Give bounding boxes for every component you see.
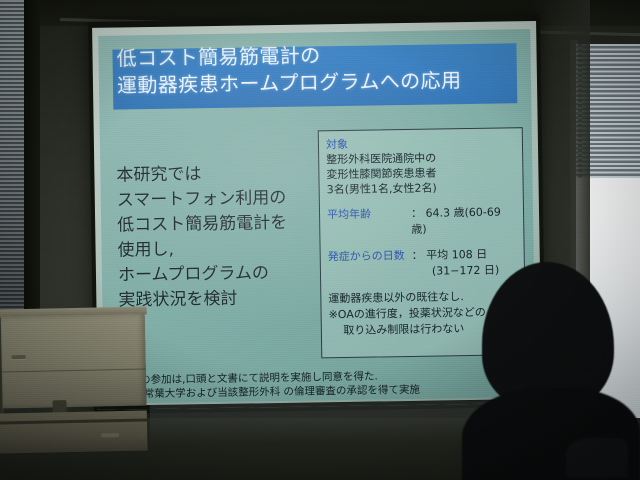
- silhouette-ear: [582, 336, 604, 370]
- info-box-age-row: 平均年齢 ： 64.3 歳(60-69 歳): [327, 204, 516, 239]
- cabinet-base-label-plate: [101, 433, 119, 437]
- info-box-subject-lines: 整形外科医院通院中の 変形性膝関節疾患患者 3名(男性1名,女性2名): [326, 149, 516, 197]
- equipment-cabinet: [0, 306, 153, 445]
- cabinet-base: [0, 410, 148, 453]
- audience-member-silhouette: [462, 262, 640, 480]
- slide-title: 低コスト簡易筋電計の 運動器疾患ホームプログラムへの応用: [116, 39, 536, 100]
- window-jamb-left: [24, 0, 40, 330]
- window-blinds-left-shading: [0, 0, 26, 318]
- info-box-age-label: 平均年齢: [327, 206, 411, 239]
- cabinet-handle: [12, 355, 26, 359]
- photo-of-projected-slide: 低コスト簡易筋電計の 運動器疾患ホームプログラムへの応用 本研究では スマートフ…: [0, 0, 640, 480]
- info-box-onset-label: 発症からの日数: [328, 248, 412, 265]
- silhouette-collar: [566, 438, 628, 478]
- info-box-age-value: ： 64.3 歳(60-69 歳): [411, 204, 516, 238]
- cabinet-front-panel: [1, 313, 147, 408]
- slide-body-left-text: 本研究では スマートフォン利用の 低コスト簡易筋電計を 使用し, ホームプログラ…: [116, 160, 328, 313]
